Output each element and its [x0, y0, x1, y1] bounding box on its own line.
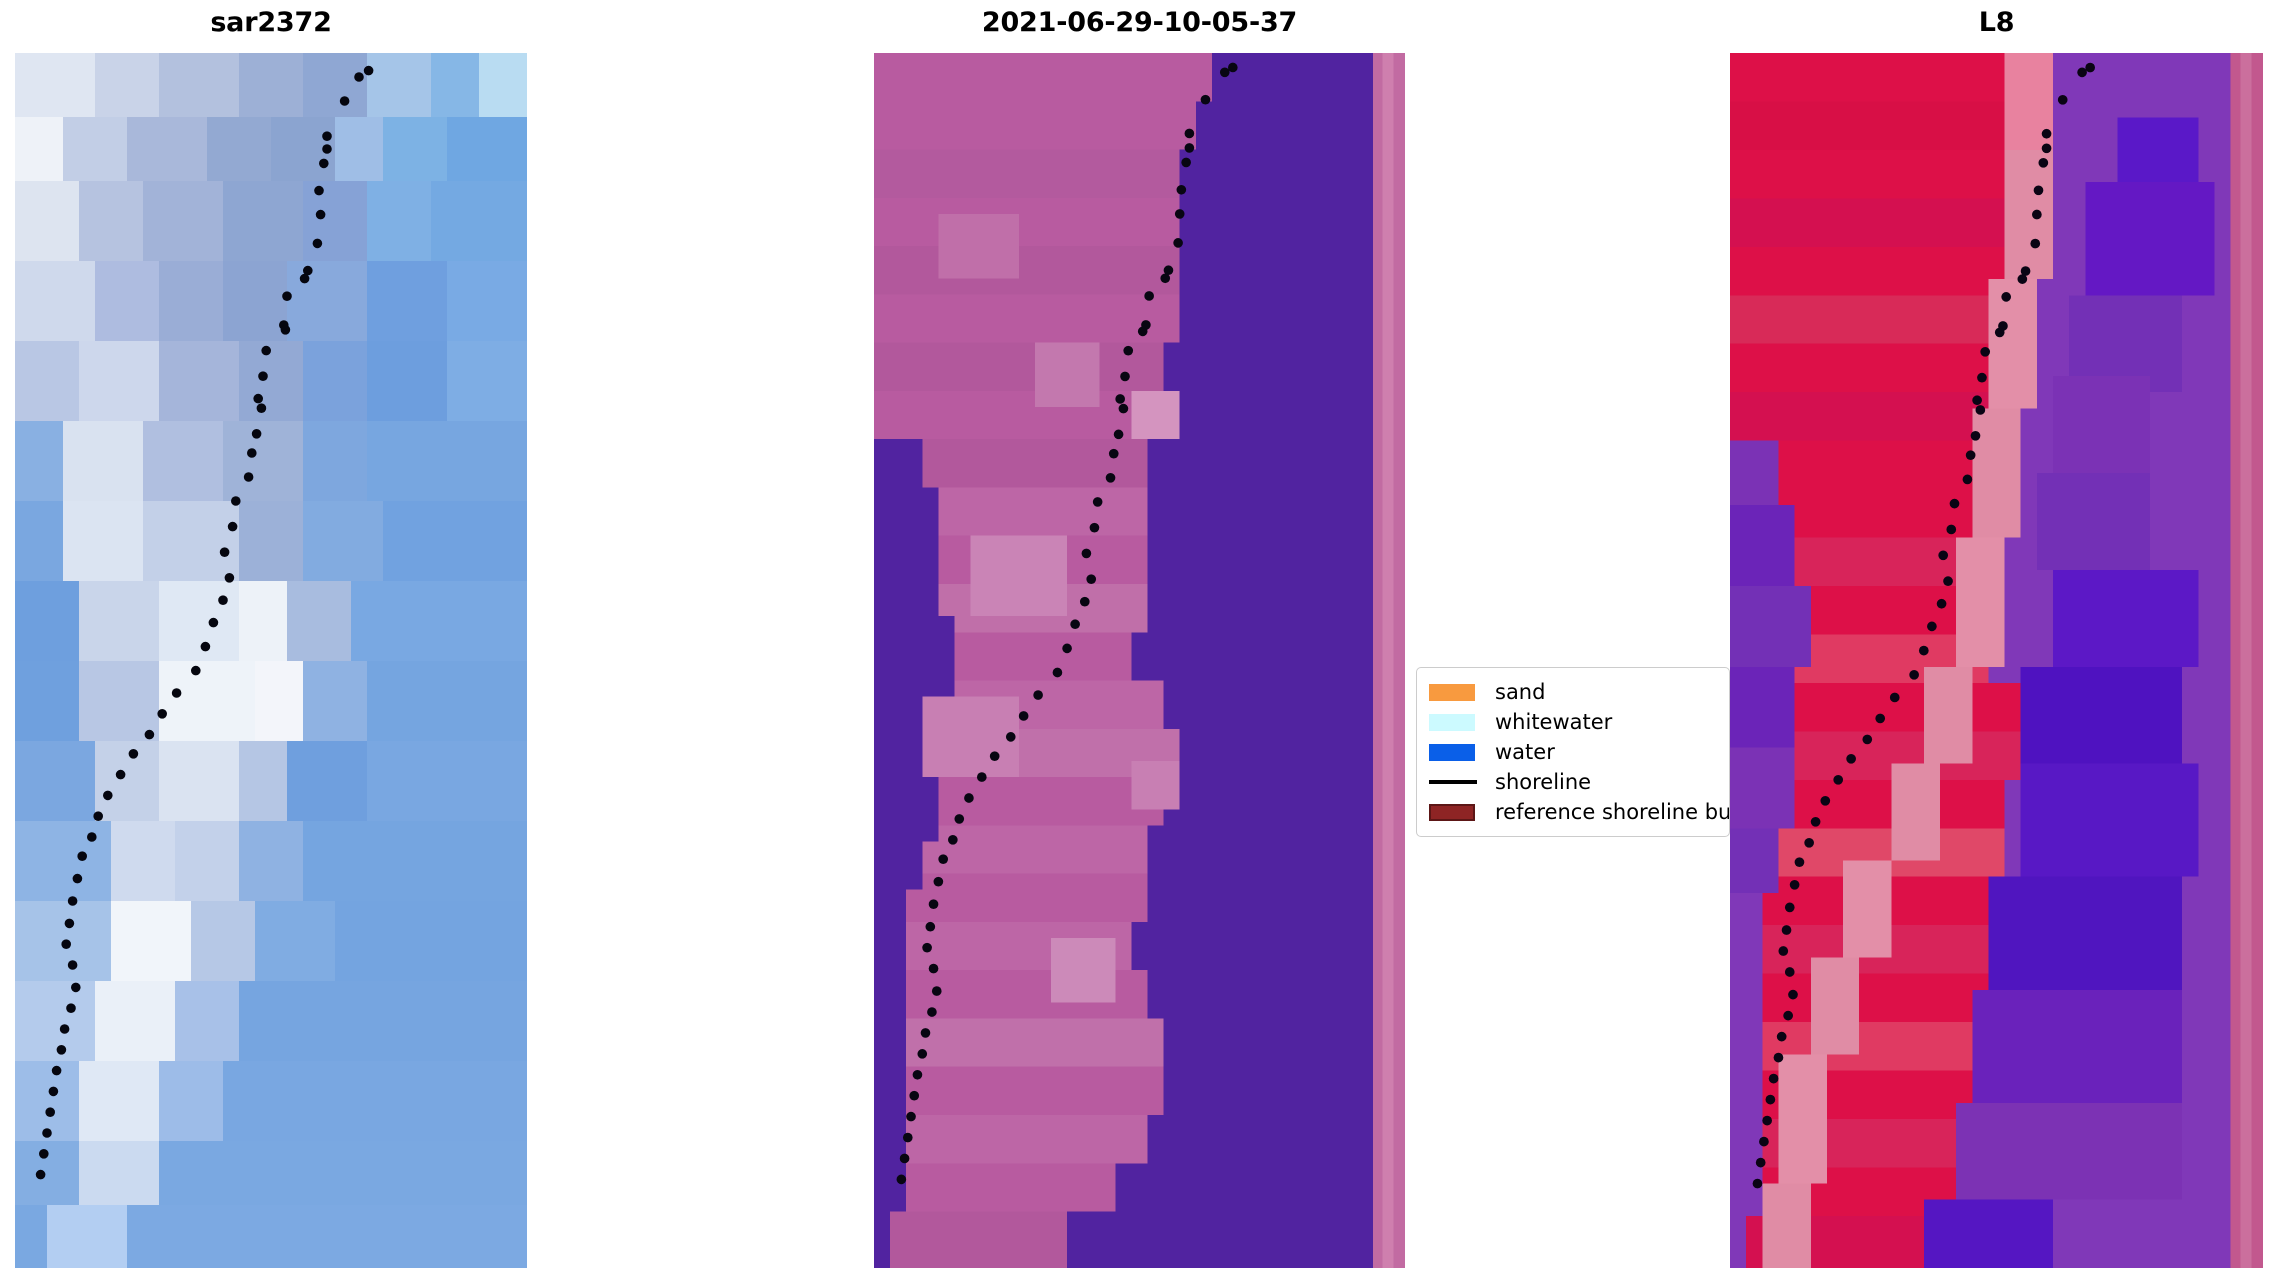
reference-shoreline-buffer-swatch-icon: [1429, 804, 1475, 821]
legend-item-shoreline[interactable]: shoreline: [1427, 767, 1719, 797]
panel-image-sar2372[interactable]: [15, 53, 527, 1268]
legend-item-sand[interactable]: sand: [1427, 677, 1719, 707]
legend-swatch-cell-reference-shoreline-buffer: [1427, 804, 1495, 821]
panel-image-classified[interactable]: [874, 53, 1405, 1268]
legend-swatch-cell-sand: [1427, 684, 1495, 701]
legend-item-whitewater[interactable]: whitewater: [1427, 707, 1719, 737]
legend-item-water[interactable]: water: [1427, 737, 1719, 767]
legend-label-water: water: [1495, 742, 1555, 763]
panel-title-l8: L8: [1730, 7, 2263, 38]
sand-swatch-icon: [1429, 684, 1475, 701]
figure-canvas: sar2372: [0, 0, 2278, 1283]
legend-label-sand: sand: [1495, 682, 1545, 703]
panel-sar2372[interactable]: sar2372: [15, 53, 527, 1268]
legend-item-reference-shoreline-buffer[interactable]: reference shoreline buff: [1427, 797, 1719, 827]
sar-raster: [15, 53, 527, 1268]
shoreline-line-icon: [1429, 780, 1477, 784]
panel-classified[interactable]: 2021-06-29-10-05-37: [874, 53, 1405, 1268]
whitewater-swatch-icon: [1429, 714, 1475, 731]
classified-raster: [874, 53, 1405, 1268]
legend-swatch-cell-shoreline: [1427, 780, 1495, 784]
l8-raster: [1730, 53, 2263, 1268]
legend-label-reference-shoreline-buffer: reference shoreline buff: [1495, 802, 1730, 823]
panel-title-sar2372: sar2372: [15, 7, 527, 38]
legend-swatch-cell-water: [1427, 744, 1495, 761]
panel-l8[interactable]: L8: [1730, 53, 2263, 1268]
panel-title-classified: 2021-06-29-10-05-37: [874, 7, 1405, 38]
legend-label-shoreline: shoreline: [1495, 772, 1591, 793]
legend-swatch-cell-whitewater: [1427, 714, 1495, 731]
legend-box[interactable]: sand whitewater water shoreline referenc: [1416, 667, 1730, 837]
panel-image-l8[interactable]: [1730, 53, 2263, 1268]
legend-label-whitewater: whitewater: [1495, 712, 1612, 733]
water-swatch-icon: [1429, 744, 1475, 761]
